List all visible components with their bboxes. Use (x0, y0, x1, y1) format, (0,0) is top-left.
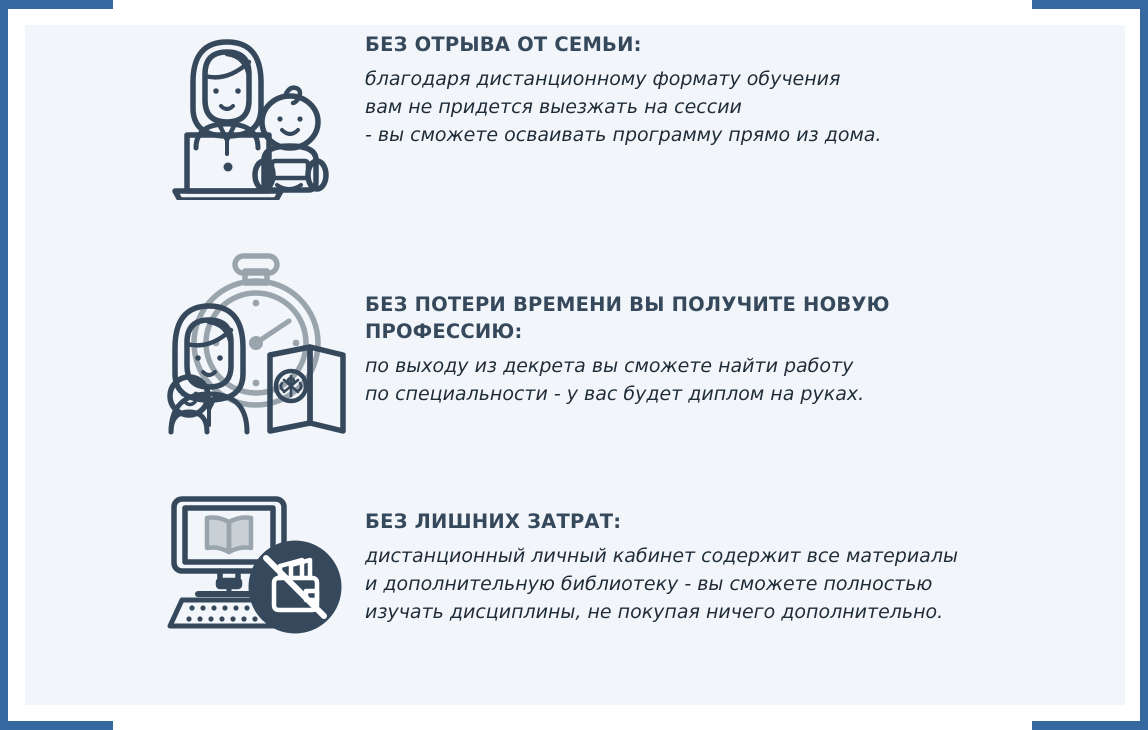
benefit-block-family: БЕЗ ОТРЫВА ОТ СЕМЬИ: благодаря дистанцио… (150, 30, 881, 200)
benefit-text-cost: БЕЗ ЛИШНИХ ЗАТРАТ: дистанционный личный … (365, 495, 958, 627)
frame-right-bar (1140, 0, 1148, 730)
frame-left-bar (0, 0, 8, 730)
frame-bottom-left-bar (0, 721, 113, 730)
benefit-heading: БЕЗ ОТРЫВА ОТ СЕМЬИ: (365, 32, 881, 59)
benefit-body: по выходу из декрета вы сможете найти ра… (365, 353, 890, 409)
frame-top-left-bar (0, 0, 113, 9)
frame-top-right-bar (1032, 0, 1148, 9)
benefit-block-time: БЕЗ ПОТЕРИ ВРЕМЕНИ ВЫ ПОЛУЧИТЕ НОВУЮ ПРО… (150, 250, 890, 440)
benefit-text-time: БЕЗ ПОТЕРИ ВРЕМЕНИ ВЫ ПОЛУЧИТЕ НОВУЮ ПРО… (365, 250, 890, 409)
benefit-body: дистанционный личный кабинет содержит вс… (365, 543, 958, 627)
stopwatch-mother-and-diploma-icon (150, 250, 365, 440)
mother-with-laptop-and-baby-icon (150, 30, 365, 200)
benefit-block-cost: БЕЗ ЛИШНИХ ЗАТРАТ: дистанционный личный … (150, 495, 958, 635)
infographic-page: БЕЗ ОТРЫВА ОТ СЕМЬИ: благодаря дистанцио… (0, 0, 1148, 730)
benefit-text-family: БЕЗ ОТРЫВА ОТ СЕМЬИ: благодаря дистанцио… (365, 30, 881, 150)
benefit-body: благодаря дистанционному формату обучени… (365, 66, 881, 150)
frame-bottom-right-bar (1032, 721, 1148, 730)
monitor-with-book-and-no-wallet-icon (150, 495, 365, 635)
benefit-heading: БЕЗ ПОТЕРИ ВРЕМЕНИ ВЫ ПОЛУЧИТЕ НОВУЮ ПРО… (365, 292, 890, 346)
benefit-heading: БЕЗ ЛИШНИХ ЗАТРАТ: (365, 509, 958, 536)
